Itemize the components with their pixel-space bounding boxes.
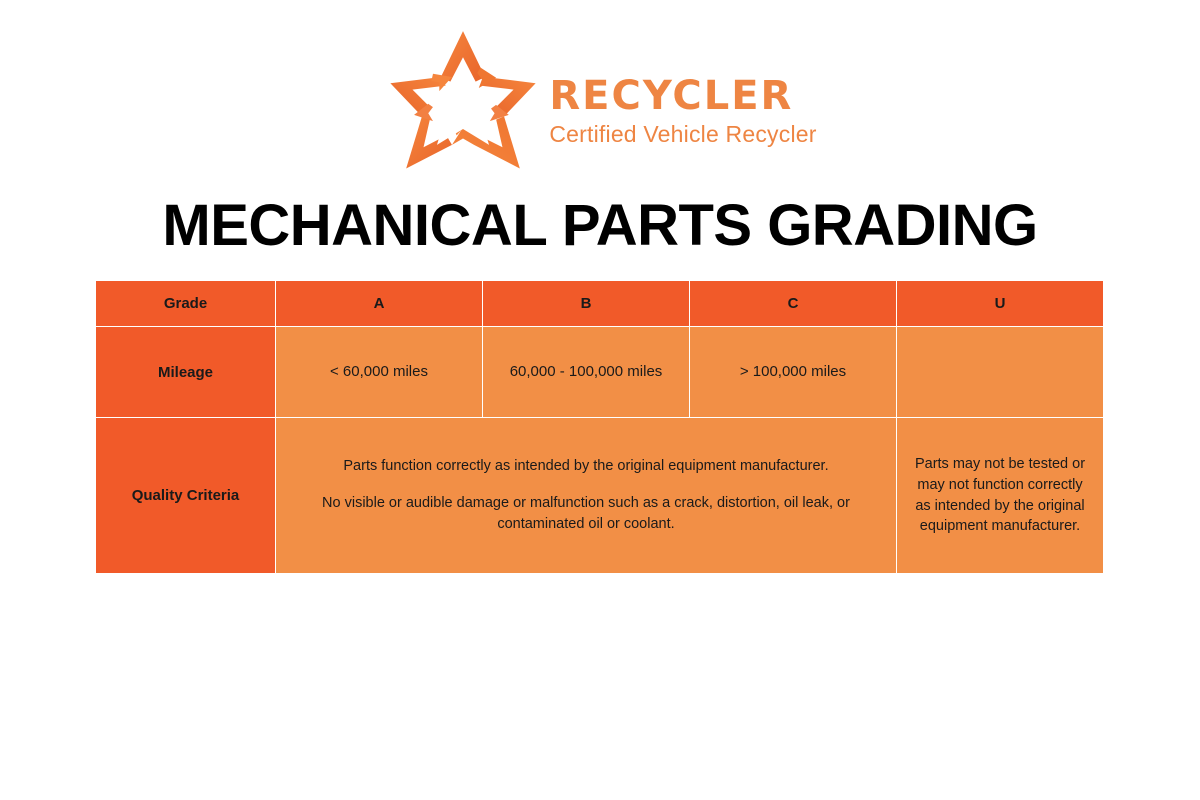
header-cell-grade-b: B	[483, 281, 690, 327]
logo-tagline: Certified Vehicle Recycler	[549, 121, 816, 148]
logo-text-block: RECYCLER Certified Vehicle Recycler	[549, 59, 816, 148]
quality-criteria-paragraph-1: Parts function correctly as intended by …	[298, 456, 874, 477]
table-row-quality-criteria: Quality Criteria Parts function correctl…	[96, 418, 1104, 574]
table-header-row: Grade A B C U	[96, 281, 1104, 327]
logo-wordmark: RECYCLER	[549, 75, 816, 117]
mileage-cell-u	[897, 327, 1104, 418]
grading-table: Grade A B C U Mileage < 60,000 miles 60,…	[95, 280, 1104, 574]
logo-inner: RECYCLER Certified Vehicle Recycler	[383, 28, 816, 178]
header-cell-grade-u: U	[897, 281, 1104, 327]
mileage-cell-b: 60,000 - 100,000 miles	[483, 327, 690, 418]
brand-logo: RECYCLER Certified Vehicle Recycler	[0, 28, 1200, 178]
row-label-quality-criteria: Quality Criteria	[96, 418, 276, 574]
quality-criteria-cell-u: Parts may not be tested or may not funct…	[897, 418, 1104, 574]
mileage-cell-a: < 60,000 miles	[276, 327, 483, 418]
row-label-mileage: Mileage	[96, 327, 276, 418]
table-row-mileage: Mileage < 60,000 miles 60,000 - 100,000 …	[96, 327, 1104, 418]
mileage-cell-c: > 100,000 miles	[690, 327, 897, 418]
header-cell-grade-label: Grade	[96, 281, 276, 327]
header-cell-grade-c: C	[690, 281, 897, 327]
page-title: MECHANICAL PARTS GRADING	[0, 196, 1200, 257]
quality-criteria-cell-abc: Parts function correctly as intended by …	[276, 418, 897, 574]
quality-criteria-paragraph-2: No visible or audible damage or malfunct…	[298, 493, 874, 535]
recycling-star-icon	[383, 28, 543, 178]
header-cell-grade-a: A	[276, 281, 483, 327]
